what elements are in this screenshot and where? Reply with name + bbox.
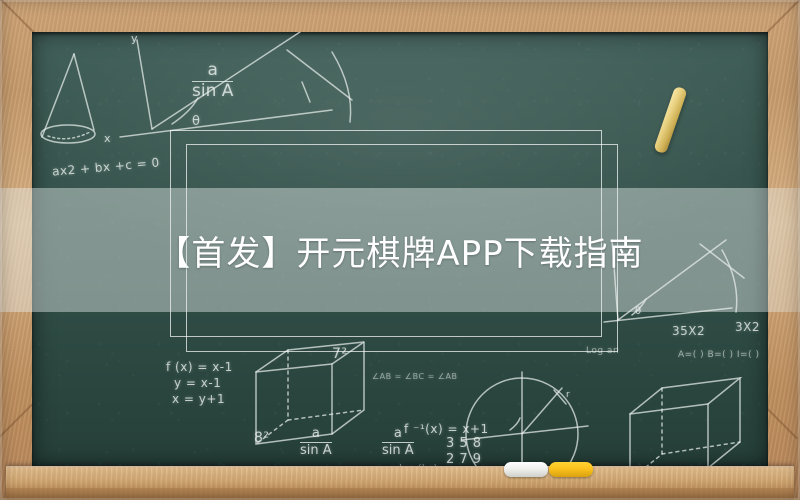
addition-row-1: 3 5 8: [446, 436, 482, 451]
angle-label-theta: θ: [192, 114, 200, 129]
function-x: x = y+1: [172, 392, 225, 406]
cube2-front-face: [630, 404, 708, 466]
law-of-sines-fraction-mid: a sin A: [300, 427, 332, 457]
cube2-top-face: [630, 378, 740, 414]
angle-tick: [302, 82, 310, 102]
angle-crossing-line: [287, 50, 352, 100]
radius-label: r: [566, 390, 570, 400]
cone-base-dashes: [48, 132, 90, 139]
page-title: 【首发】开元棋牌APP下载指南: [0, 188, 800, 312]
law-of-sines-fraction: a sin A: [192, 62, 233, 101]
chalkboard-banner: a sin A a sin A a sin A ax2 + bx +c = 0 …: [0, 0, 800, 500]
square-eight: 8²: [254, 430, 270, 446]
circle-angle-arc: [510, 418, 520, 430]
cube2-hidden-edges: [630, 388, 662, 466]
matrix-expression: A=( ) B=( ) I=( ): [678, 350, 759, 360]
axis-label-x: x: [104, 132, 111, 145]
chalk-tray-lip: [6, 488, 794, 500]
geometry-note: ∠AB = ∠BC = ∠AB: [372, 372, 457, 381]
function-fx: f (x) = x-1: [166, 360, 233, 374]
multiplication-35x2: 35X2: [672, 324, 705, 338]
axis-y-line: [137, 40, 152, 129]
multiplication-3x2: 3X2: [735, 320, 760, 334]
cone-right-edge: [74, 54, 94, 130]
yellow-chalk-piece: [549, 462, 593, 477]
axis-label-y: y: [131, 32, 138, 45]
circle-radius-line: [522, 388, 562, 434]
addition-row-2: 2 7 9: [446, 452, 482, 466]
white-chalk-piece: [504, 462, 548, 477]
inverse-function: f ⁻¹(x) = x+1: [404, 422, 489, 436]
function-y: y = x-1: [174, 376, 221, 390]
